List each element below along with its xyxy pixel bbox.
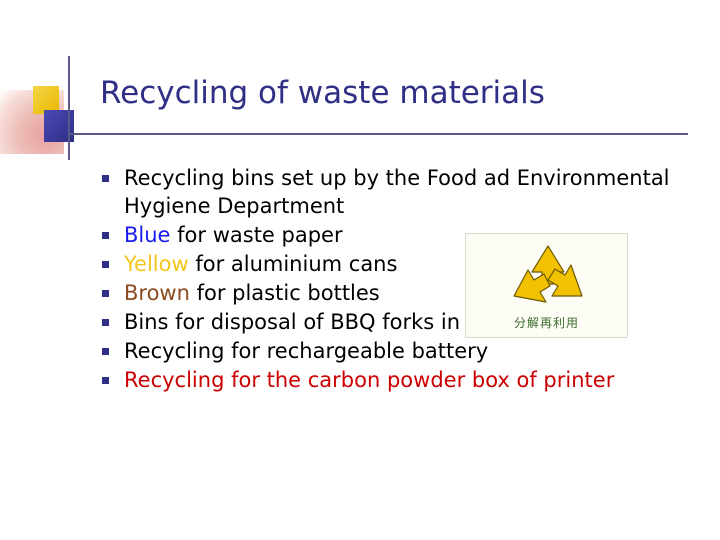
square-bullet-icon: [96, 164, 124, 182]
square-bullet-icon: [96, 279, 124, 297]
bullet-text-segment: Recycling for rechargeable battery: [124, 339, 488, 363]
recycling-logo-caption: 分解再利用: [466, 314, 627, 331]
bullet-text: Blue for waste paper: [124, 221, 343, 249]
slide-title: Recycling of waste materials: [100, 76, 700, 110]
bullet-text-segment: Recycling bins set up by the Food ad Env…: [124, 166, 676, 218]
bullet-text: Recycling for the carbon powder box of p…: [124, 366, 614, 394]
slide-decoration: [0, 56, 110, 166]
bullet-text: Recycling for rechargeable battery: [124, 337, 488, 365]
bullet-text-segment: Recycling for the carbon powder box of p…: [124, 368, 614, 392]
bullet-text: Recycling bins set up by the Food ad Env…: [124, 164, 706, 220]
square-bullet-icon: [96, 337, 124, 355]
recycling-mobius-icon: [502, 240, 594, 312]
recycling-logo: 分解再利用: [465, 233, 628, 338]
square-bullet-icon: [96, 366, 124, 384]
decoration-vertical-rule: [68, 56, 70, 160]
square-bullet-icon: [96, 308, 124, 326]
square-bullet-icon: [96, 221, 124, 239]
bullet-text-segment: Blue: [124, 223, 170, 247]
bullet-text-segment: Yellow: [124, 252, 189, 276]
bullet-text-segment: for waste paper: [170, 223, 342, 247]
bullet-item: Recycling bins set up by the Food ad Env…: [96, 164, 706, 220]
bullet-item: Recycling for rechargeable battery: [96, 337, 706, 365]
bullet-text: Brown for plastic bottles: [124, 279, 380, 307]
square-bullet-icon: [96, 250, 124, 268]
title-underline: [68, 133, 688, 135]
bullet-item: Recycling for the carbon powder box of p…: [96, 366, 706, 394]
bullet-text: Yellow for aluminium cans: [124, 250, 397, 278]
bullet-text-segment: for plastic bottles: [190, 281, 380, 305]
bullet-text-segment: Brown: [124, 281, 190, 305]
bullet-text-segment: for aluminium cans: [189, 252, 398, 276]
